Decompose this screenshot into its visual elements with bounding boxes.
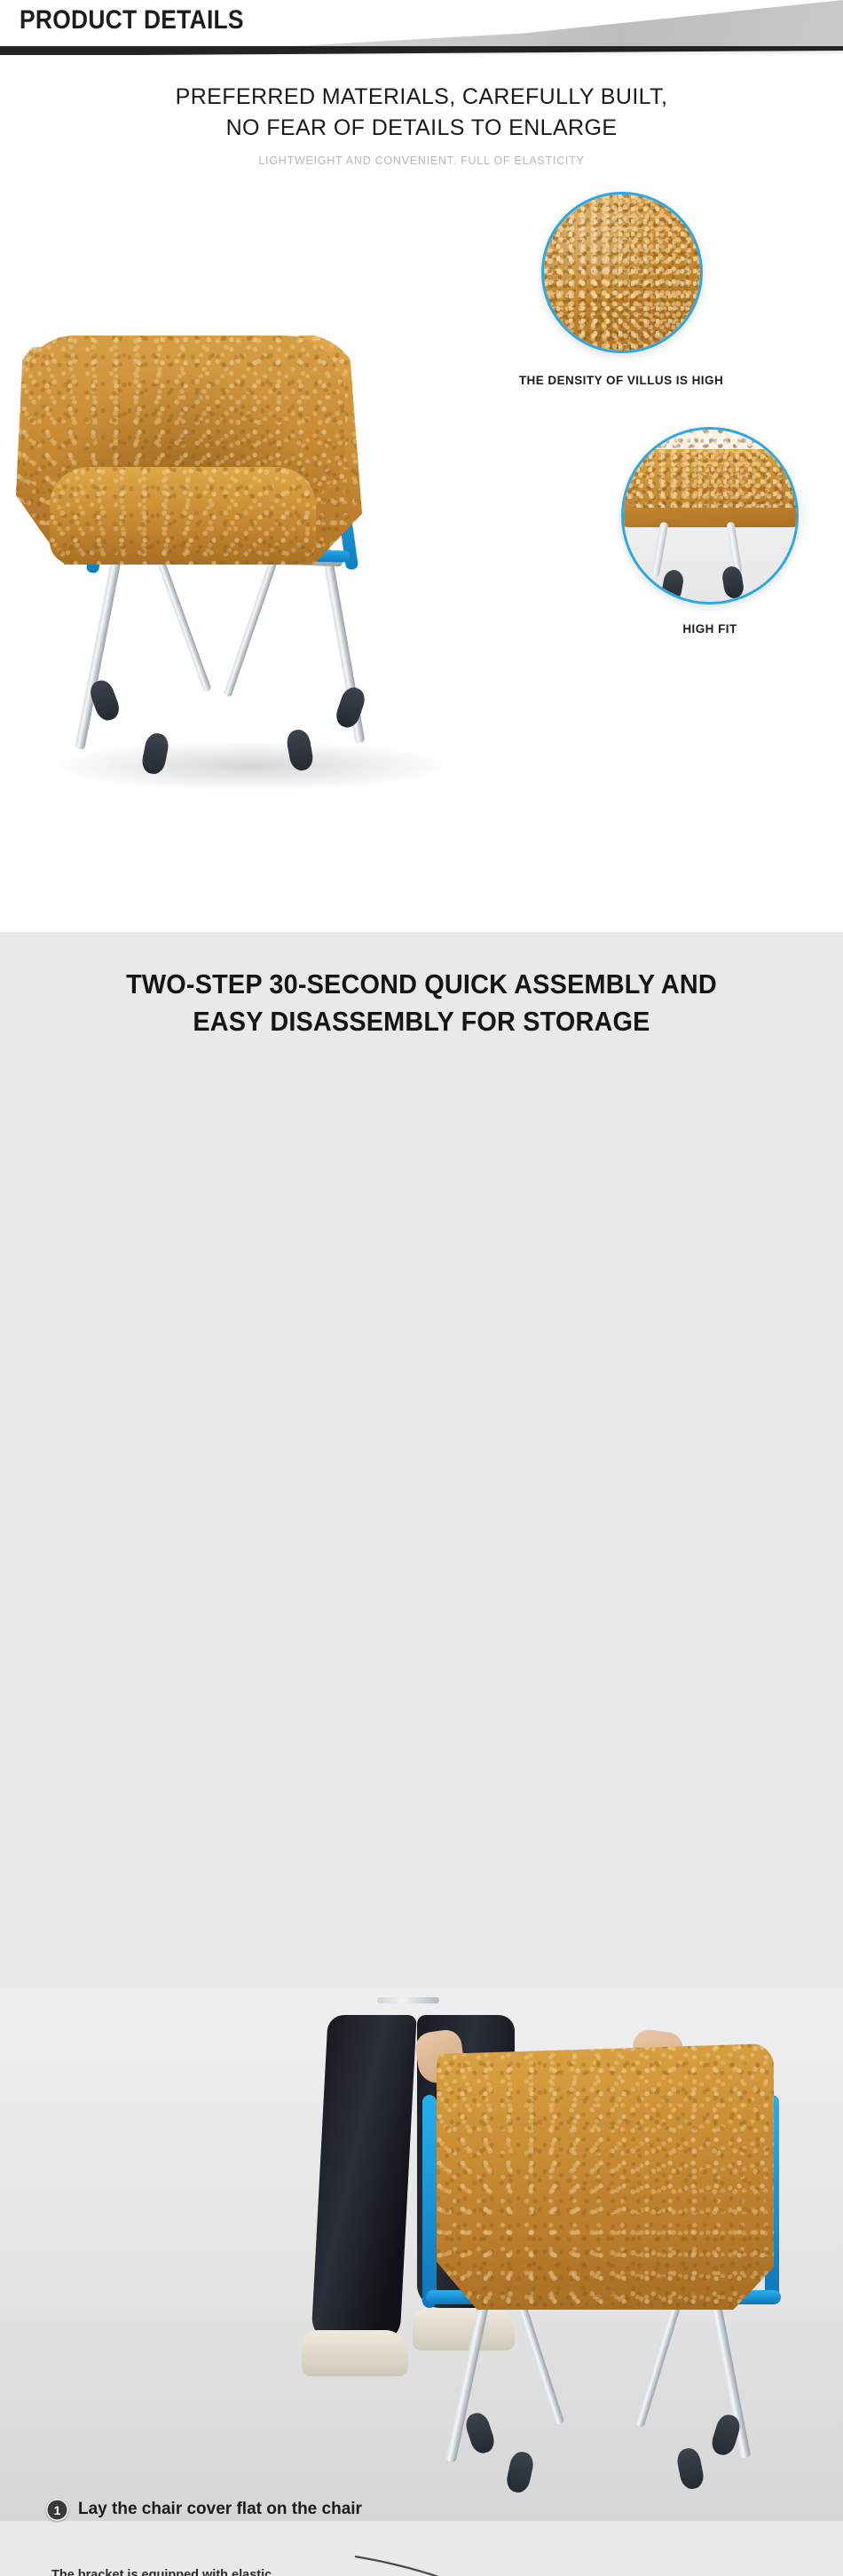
main-chair-photo [9, 201, 524, 822]
step-1-text: Lay the chair cover flat on the chair [78, 2499, 362, 2520]
section-product-details: PRODUCT DETAILS PREFERRED MATERIALS, CAR… [0, 0, 843, 932]
fleece-lip-texture [50, 467, 316, 565]
banner-gray-wedge [293, 0, 843, 46]
person-left-leg [311, 2015, 416, 2343]
callout-villus-texture [544, 194, 700, 351]
callout-villus-density-circle [541, 192, 703, 353]
product-detail-page: PRODUCT DETAILS PREFERRED MATERIALS, CAR… [0, 0, 843, 2576]
headline-line-1: PREFERRED MATERIALS, CAREFULLY BUILT, [176, 84, 668, 109]
fleece-seat-front-lip [50, 467, 316, 565]
chair-leg-front-left [75, 548, 123, 750]
chair-floor-shadow [60, 742, 442, 790]
assembly-arrow-1 [346, 2548, 808, 2576]
section-one-subtitle: LIGHTWEIGHT AND CONVENIENT. FULL OF ELAS… [0, 154, 843, 167]
photo1-fleece-cover [437, 2043, 774, 2310]
callout-high-fit-texture [624, 430, 799, 508]
chair-foot-rear-right [333, 684, 368, 731]
chair-foot-rear-left [87, 677, 122, 723]
headline-line-2: NO FEAR OF DETAILS TO ENLARGE [226, 115, 618, 140]
section-one-headline: PREFERRED MATERIALS, CAREFULLY BUILT, NO… [0, 82, 843, 143]
page-banner: PRODUCT DETAILS [0, 0, 843, 55]
chair-leg-rear-left [151, 543, 211, 692]
section-one-heading-block: PREFERRED MATERIALS, CAREFULLY BUILT, NO… [0, 55, 843, 167]
assembly-note: The bracket is equipped with elastic ban… [51, 2565, 272, 2576]
assembly-headline-line-1: TWO-STEP 30-SECOND QUICK ASSEMBLY AND [126, 968, 717, 1000]
chair-carry-bar [377, 1997, 439, 2003]
assembly-headline-line-2: EASY DISASSEMBLY FOR STORAGE [193, 1006, 650, 1037]
step-1-badge: 1 [46, 2499, 68, 2521]
section-one-image-stage: THE DENSITY OF VILLUS IS HIGH HIGH FIT [0, 183, 843, 893]
person-left-shoe [302, 2330, 408, 2376]
callout-villus-density-caption: THE DENSITY OF VILLUS IS HIGH [453, 374, 790, 387]
person-right-shoe [413, 2308, 515, 2351]
photo1-chair-frame-left [422, 2095, 437, 2308]
assembly-photo-step-1 [0, 1988, 843, 2521]
section-two-headline: TWO-STEP 30-SECOND QUICK ASSEMBLY AND EA… [29, 966, 814, 1039]
photo1-fleece-texture [437, 2043, 774, 2310]
chair-leg-rear-right [224, 544, 283, 698]
callout-high-fit-caption: HIGH FIT [621, 622, 799, 636]
assembly-step-1: 1 Lay the chair cover flat on the chair [46, 2499, 362, 2521]
section-assembly: TWO-STEP 30-SECOND QUICK ASSEMBLY AND EA… [0, 932, 843, 2576]
section-two-heading-block: TWO-STEP 30-SECOND QUICK ASSEMBLY AND EA… [0, 932, 843, 1039]
callout-high-fit-circle [621, 427, 799, 604]
page-title: PRODUCT DETAILS [20, 5, 244, 36]
banner-bar-shadow [0, 46, 843, 55]
